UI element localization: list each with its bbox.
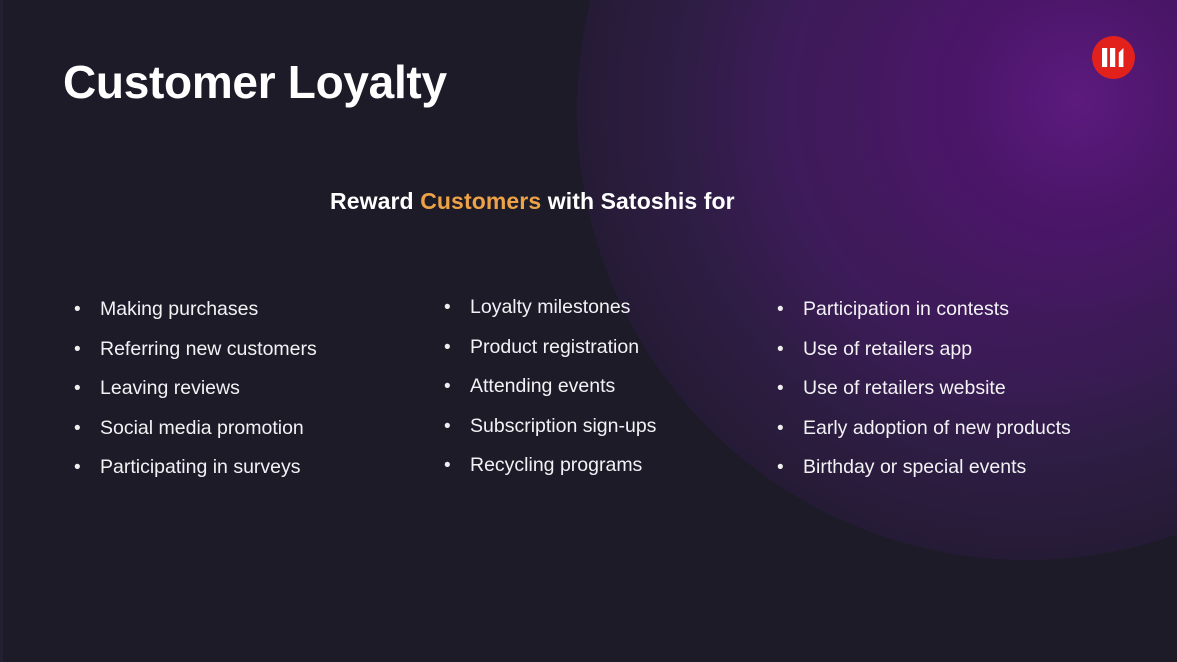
subtitle-lead: Reward — [330, 188, 420, 214]
list-item-label: Recycling programs — [470, 456, 642, 476]
bullet-dot-icon: • — [444, 456, 470, 475]
bullet-dot-icon: • — [777, 300, 803, 319]
list-item-label: Subscription sign-ups — [470, 417, 656, 437]
list-item: • Birthday or special events — [777, 458, 1071, 498]
bullet-dot-icon: • — [444, 338, 470, 357]
bullet-dot-icon: • — [777, 458, 803, 477]
list-item-label: Participation in contests — [803, 300, 1009, 320]
list-item: • Leaving reviews — [74, 379, 317, 419]
list-item-label: Use of retailers app — [803, 340, 972, 360]
list-item-label: Use of retailers website — [803, 379, 1006, 399]
list-item: • Use of retailers website — [777, 379, 1071, 419]
bullet-dot-icon: • — [444, 417, 470, 436]
list-item: • Social media promotion — [74, 419, 317, 459]
bullet-dot-icon: • — [777, 379, 803, 398]
list-item: • Early adoption of new products — [777, 419, 1071, 459]
list-item-label: Social media promotion — [100, 419, 304, 439]
bullet-dot-icon: • — [444, 377, 470, 396]
list-item-label: Early adoption of new products — [803, 419, 1071, 439]
list-item: • Subscription sign-ups — [444, 417, 656, 457]
bullet-dot-icon: • — [777, 419, 803, 438]
bullet-dot-icon: • — [74, 379, 100, 398]
bullet-column-1: • Making purchases • Referring new custo… — [74, 300, 317, 498]
list-item: • Attending events — [444, 377, 656, 417]
list-item: • Loyalty milestones — [444, 298, 656, 338]
list-item: • Making purchases — [74, 300, 317, 340]
list-item-label: Leaving reviews — [100, 379, 240, 399]
list-item-label: Loyalty milestones — [470, 298, 630, 318]
list-item-label: Participating in surveys — [100, 458, 301, 478]
bullet-dot-icon: • — [74, 419, 100, 438]
brand-logo-icon — [1092, 36, 1135, 79]
page-title: Customer Loyalty — [63, 55, 447, 109]
subtitle: Reward Customers with Satoshis for — [330, 188, 735, 215]
bullet-dot-icon: • — [444, 298, 470, 317]
subtitle-trail: with Satoshis for — [541, 188, 734, 214]
slide-canvas: Customer Loyalty Reward Customers with S… — [0, 0, 1177, 662]
list-item: • Use of retailers app — [777, 340, 1071, 380]
subtitle-accent: Customers — [420, 188, 541, 214]
bullet-dot-icon: • — [74, 300, 100, 319]
left-edge-accent — [0, 0, 3, 662]
bullet-column-2: • Loyalty milestones • Product registrat… — [444, 298, 656, 496]
list-item: • Participating in surveys — [74, 458, 317, 498]
three-bars-icon — [1102, 48, 1125, 67]
list-item-label: Attending events — [470, 377, 615, 397]
list-item-label: Referring new customers — [100, 340, 317, 360]
bullet-dot-icon: • — [74, 340, 100, 359]
bullet-dot-icon: • — [777, 340, 803, 359]
bullet-column-3: • Participation in contests • Use of ret… — [777, 300, 1071, 498]
list-item-label: Making purchases — [100, 300, 258, 320]
list-item-label: Product registration — [470, 338, 639, 358]
list-item: • Product registration — [444, 338, 656, 378]
list-item: • Recycling programs — [444, 456, 656, 496]
bullet-dot-icon: • — [74, 458, 100, 477]
list-item: • Referring new customers — [74, 340, 317, 380]
list-item: • Participation in contests — [777, 300, 1071, 340]
list-item-label: Birthday or special events — [803, 458, 1026, 478]
